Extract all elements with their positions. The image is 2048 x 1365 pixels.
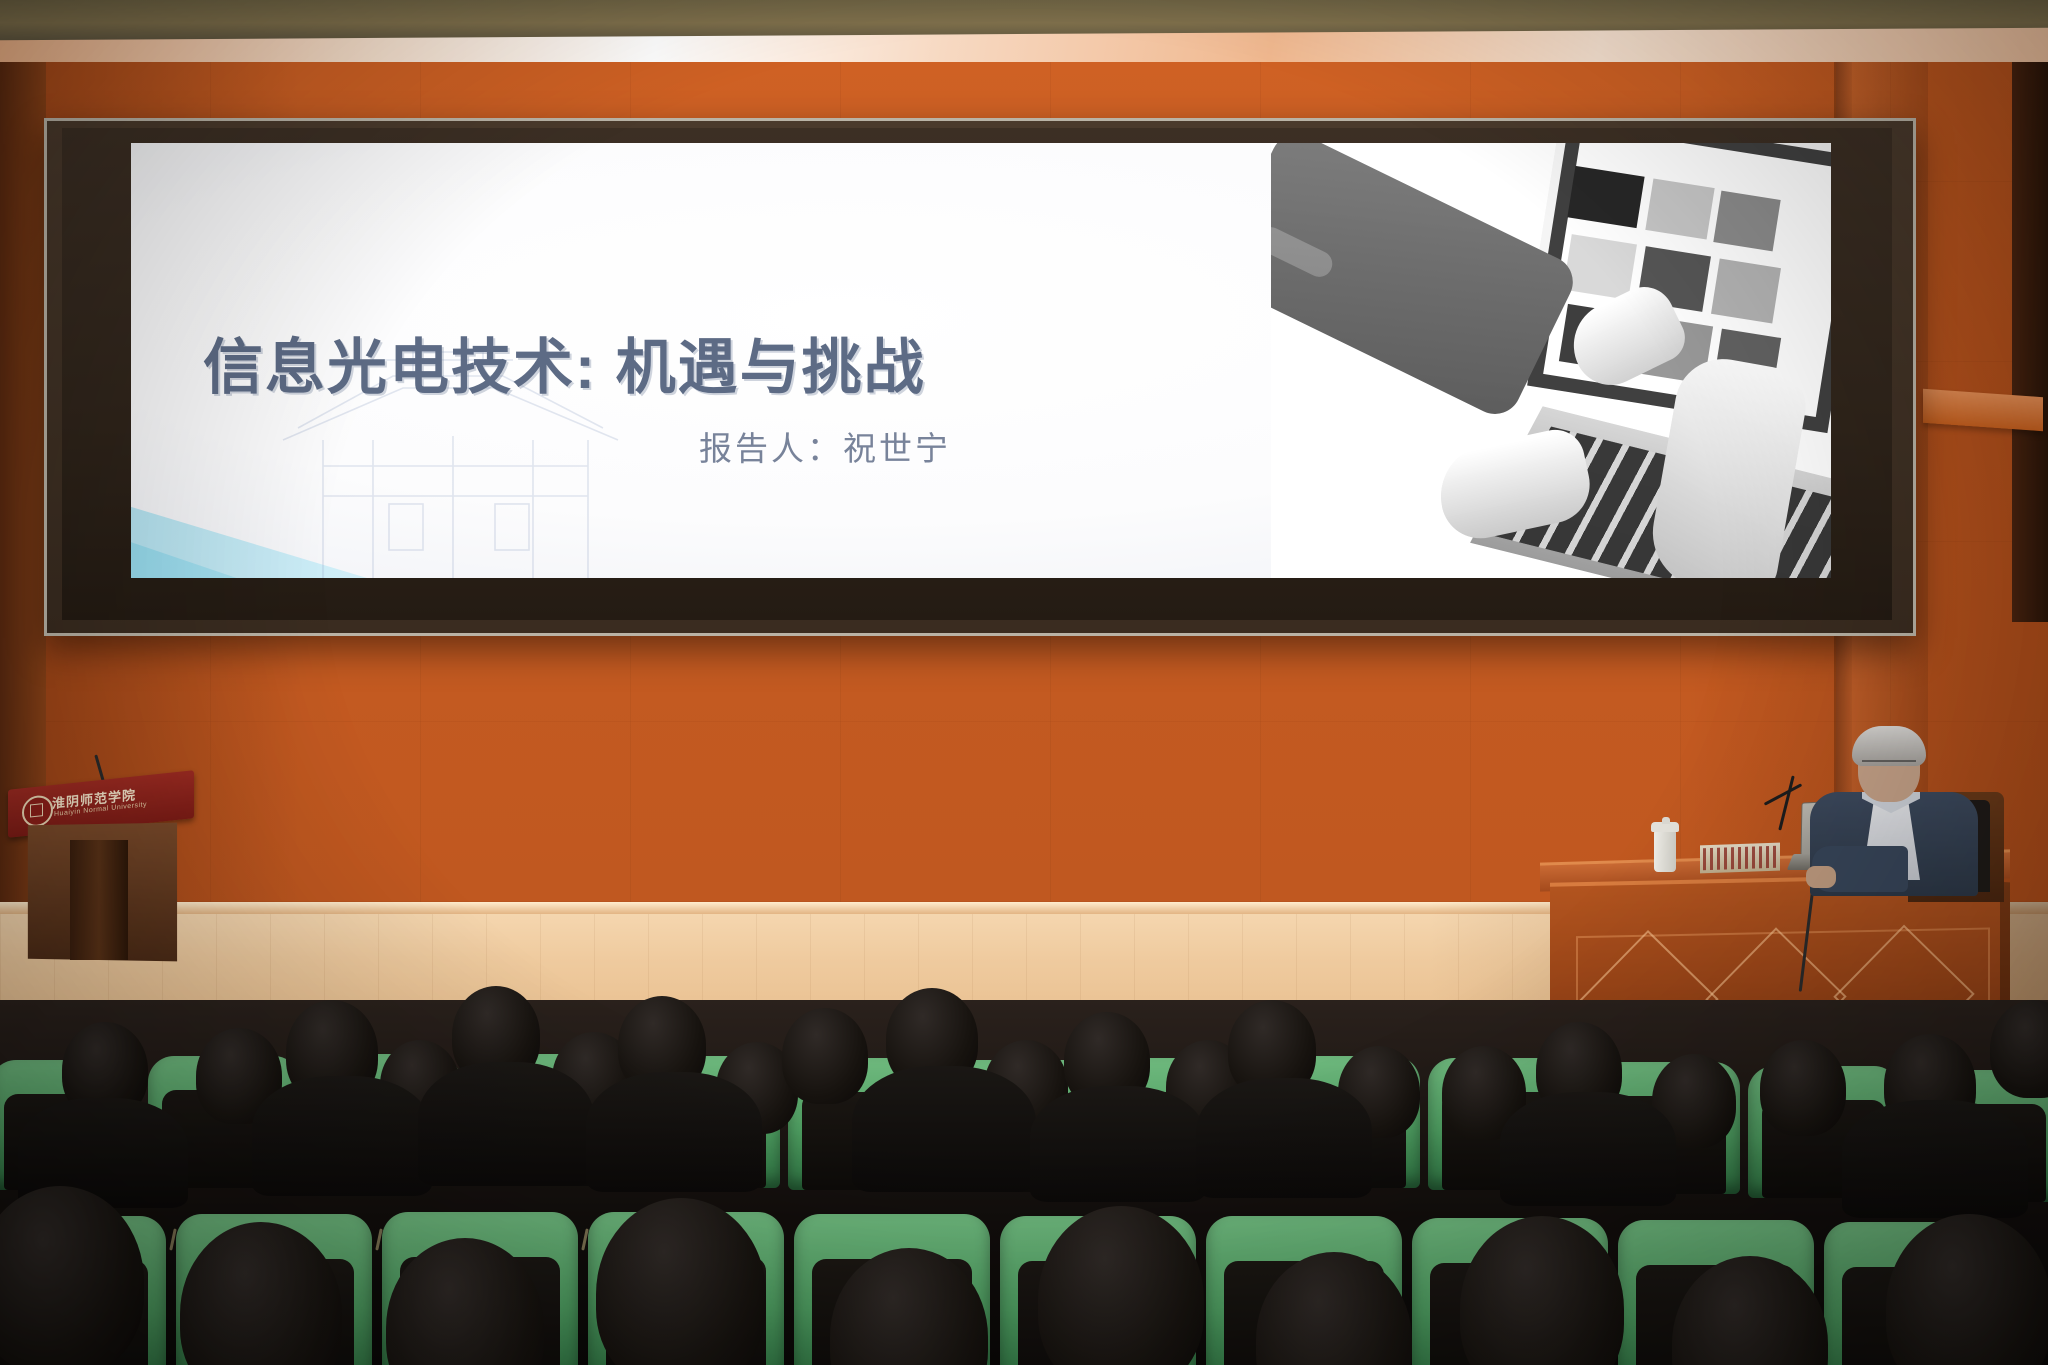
audience-shoulders	[586, 1072, 762, 1192]
nameplate	[1700, 843, 1780, 874]
audience-head	[782, 1008, 868, 1104]
nameplate-text	[1703, 846, 1777, 871]
speaker-glasses-icon	[1862, 760, 1916, 773]
lectern: 淮阴师范学院 Huaiyin Normal University	[8, 780, 198, 960]
slide-presenter-line: 报告人：祝世宁	[699, 422, 951, 470]
cup-knob	[1662, 817, 1670, 824]
wall-recess-right	[2012, 62, 2048, 622]
audience-shoulders	[252, 1076, 432, 1196]
audience-shoulders	[1030, 1086, 1206, 1202]
audience-shoulders	[418, 1062, 594, 1186]
audience-shoulders	[1842, 1100, 2028, 1218]
water-cup	[1654, 830, 1676, 872]
speaker-hand	[1806, 866, 1836, 888]
lectern-stem	[70, 840, 128, 960]
audience-shoulders	[1196, 1078, 1372, 1198]
audience-head	[1760, 1040, 1846, 1136]
slide-title: 信息光电技术: 机遇与挑战	[203, 319, 926, 406]
wall-recess-left	[0, 62, 46, 902]
audience-shoulders	[852, 1066, 1036, 1192]
audience-shoulders	[1500, 1092, 1676, 1206]
university-seal-icon	[22, 794, 53, 828]
slide-photo-laptop	[1271, 143, 1831, 578]
lecture-hall-scene: 信息光电技术: 机遇与挑战 报告人：祝世宁 淮阴师范学院 Huaiyin Nor…	[0, 0, 2048, 1365]
projection-screen[interactable]: 信息光电技术: 机遇与挑战 报告人：祝世宁	[131, 143, 1831, 578]
